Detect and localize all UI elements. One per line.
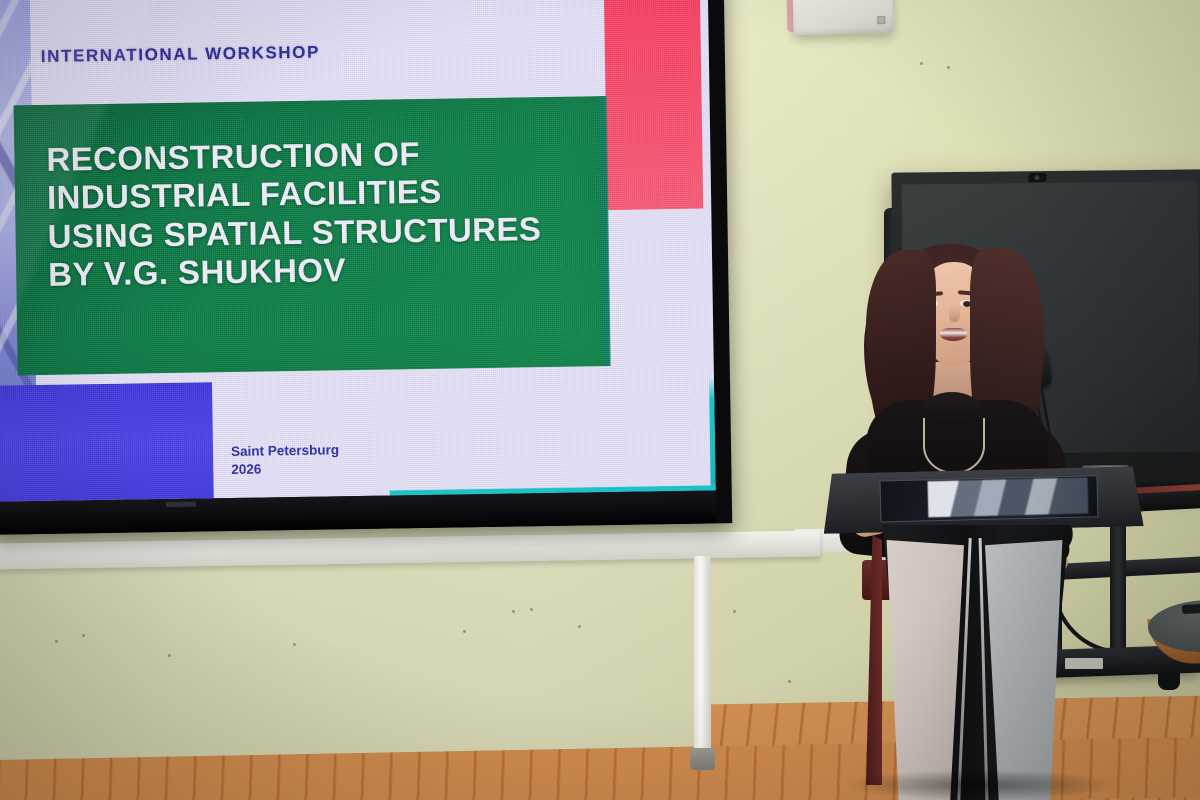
stand-label <box>1065 658 1103 669</box>
slide-red-block <box>604 0 704 210</box>
presenter-mouth <box>940 328 967 341</box>
slide-teal-edge-right <box>703 0 716 490</box>
stand-caster-right <box>1158 672 1180 690</box>
presentation-slide: INTERNATIONAL WORKSHOP RECONSTRUCTION OF… <box>0 0 716 502</box>
table-object <box>1182 603 1200 614</box>
wall-rail-post <box>694 556 711 768</box>
speaker-indicator-icon <box>877 16 885 24</box>
podium-desktop <box>822 466 1143 534</box>
presentation-photo: INTERNATIONAL WORKSHOP RECONSTRUCTION OF… <box>0 0 1200 800</box>
podium-floor-shadow <box>845 770 1115 800</box>
slide-location-text: Saint Petersburg 2026 <box>231 441 340 479</box>
side-monitor <box>1132 490 1200 512</box>
projection-screen: INTERNATIONAL WORKSHOP RECONSTRUCTION OF… <box>0 0 732 535</box>
slide-title-text: RECONSTRUCTION OF INDUSTRIAL FACILITIES … <box>46 132 608 294</box>
wall-rail-post-foot <box>690 748 715 770</box>
podium-reflection <box>928 477 1089 517</box>
display-camera-icon <box>1028 173 1046 182</box>
presenter-necklace <box>923 418 985 474</box>
presenter-nose <box>949 306 960 322</box>
slide-blue-block <box>0 382 214 502</box>
screen-bezel-indicator <box>166 502 196 507</box>
wall-speaker <box>792 0 893 35</box>
